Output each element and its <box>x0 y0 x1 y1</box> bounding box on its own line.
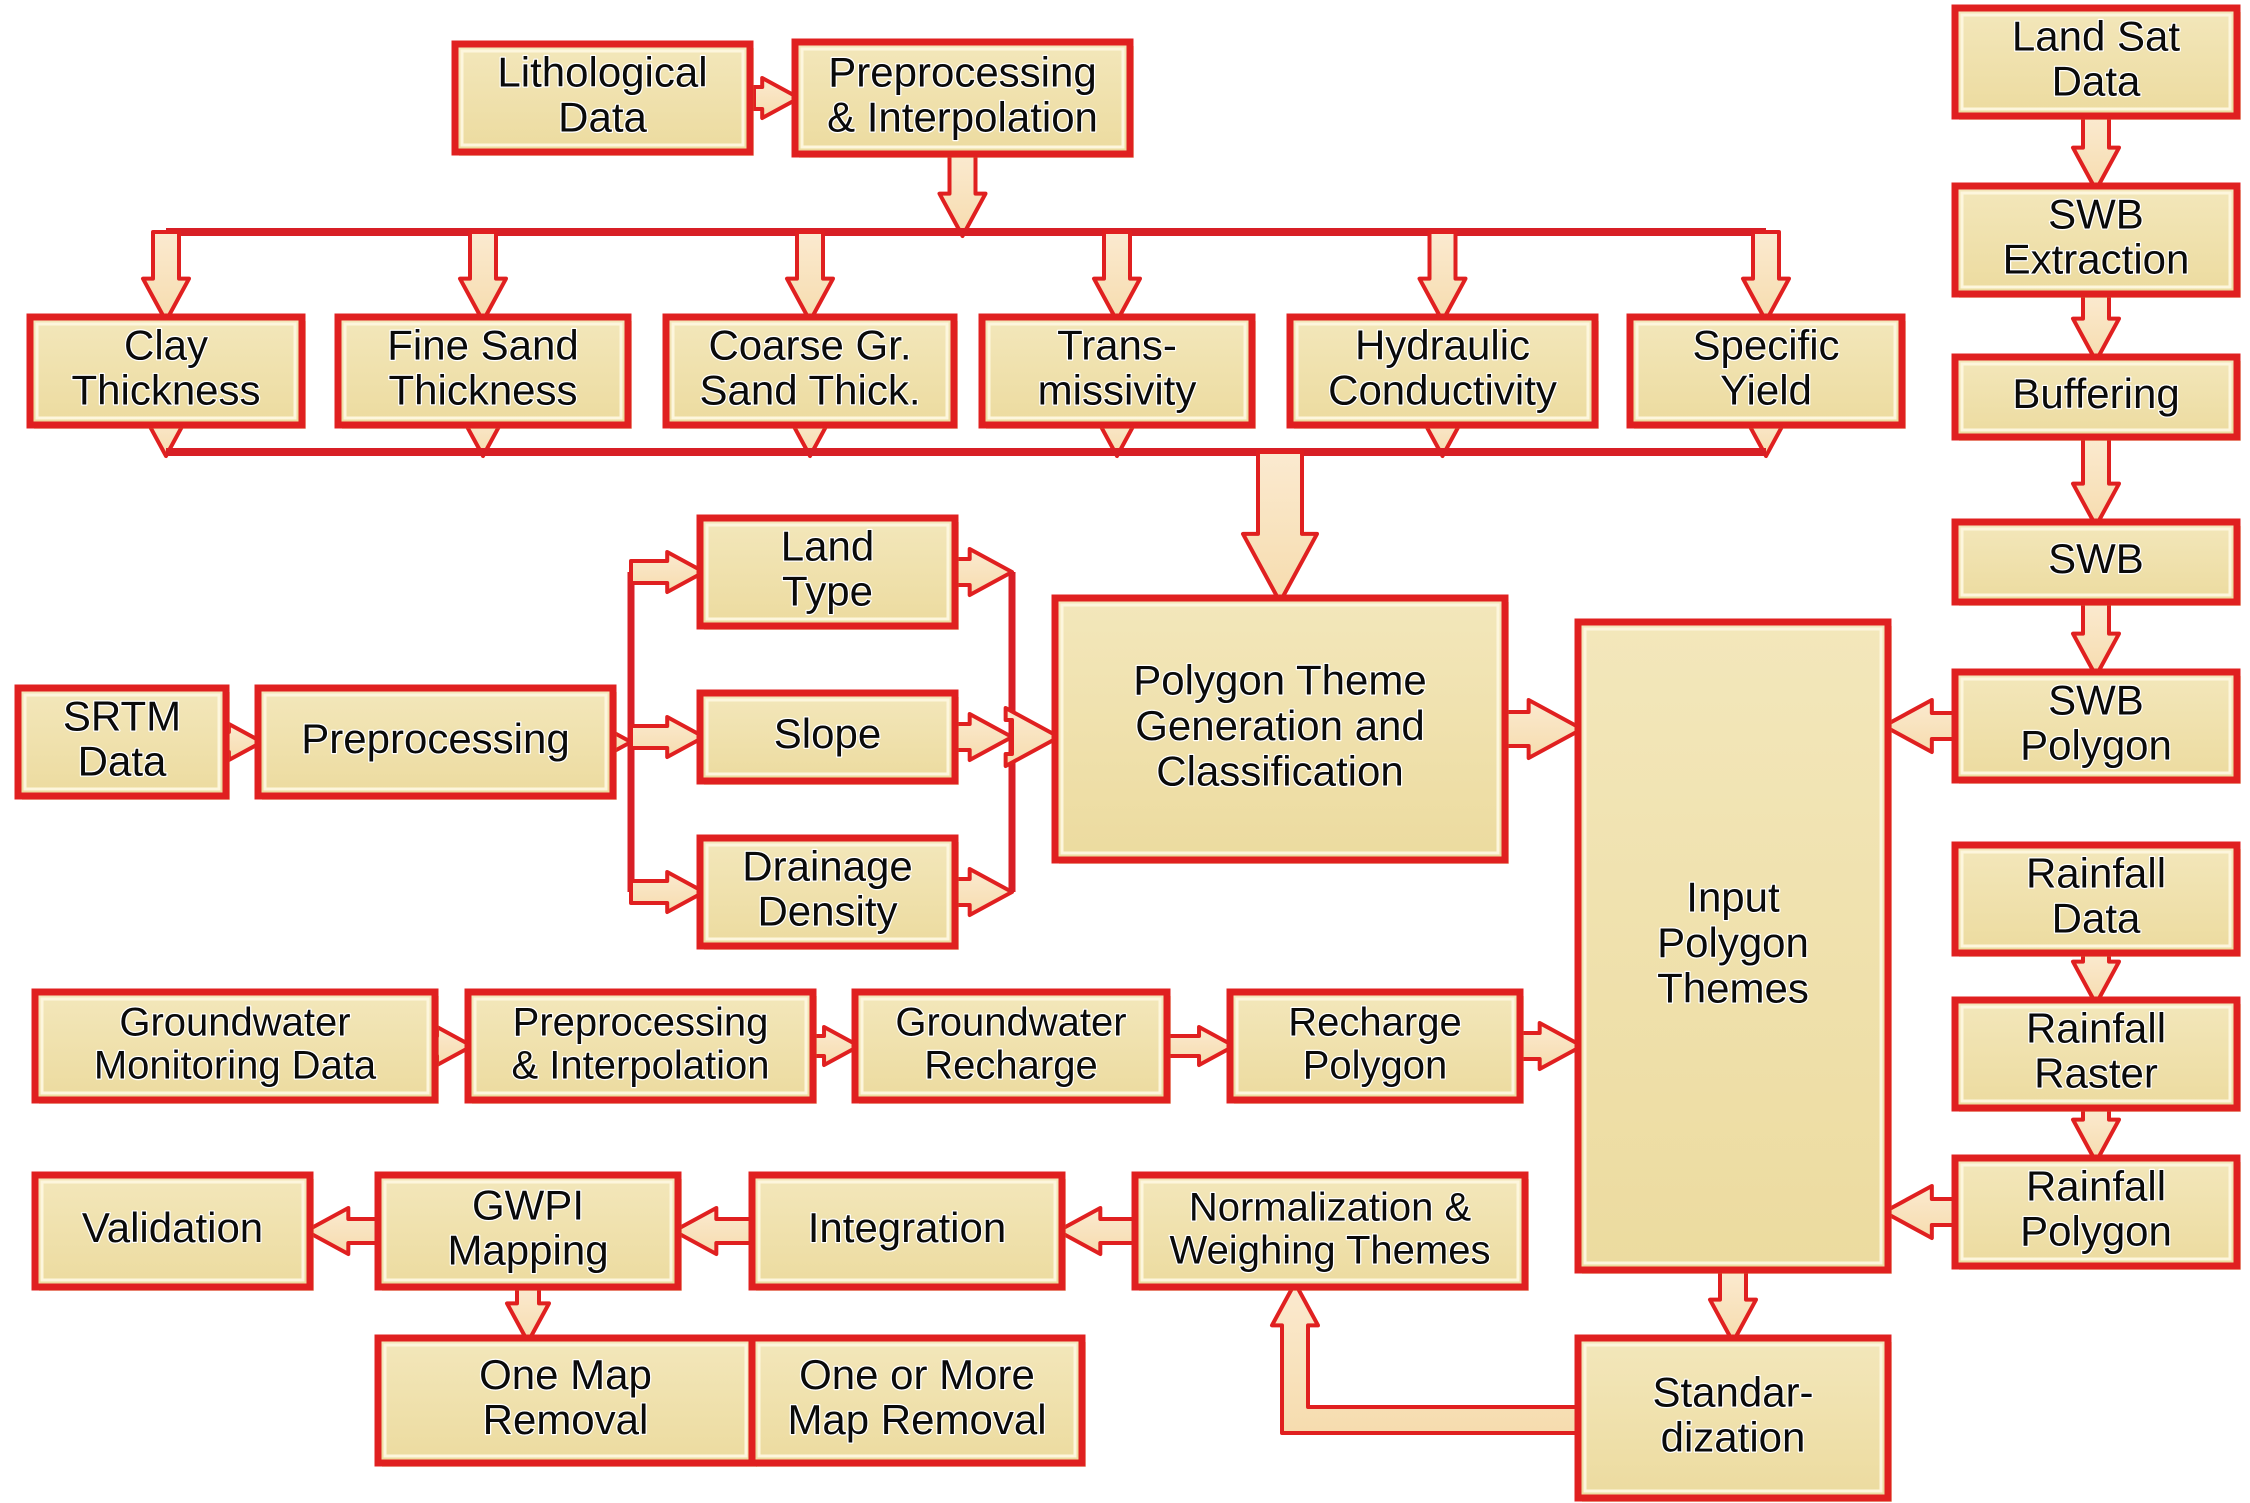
node-polygon-theme-generation[interactable]: Polygon ThemeGeneration andClassificatio… <box>1055 598 1509 864</box>
node-label-fine-sand-thickness: Fine SandThickness <box>387 321 578 413</box>
arrow-right-icon <box>1520 1023 1582 1069</box>
node-label-rainfall-raster: RainfallRaster <box>2026 1004 2166 1096</box>
arrow-right-icon <box>631 872 704 912</box>
arrow-down-icon <box>2073 116 2119 190</box>
node-fine-sand-thickness[interactable]: Fine SandThickness <box>338 317 632 429</box>
arrow-left-icon <box>674 1208 752 1254</box>
node-clay-thickness[interactable]: ClayThickness <box>30 317 306 429</box>
node-label-slope: Slope <box>774 710 881 757</box>
arrow-down-icon <box>1743 232 1789 321</box>
arrow-down-icon <box>2073 294 2119 361</box>
node-label-one-or-more-map-removal: One or MoreMap Removal <box>787 1351 1046 1443</box>
node-swb[interactable]: SWB <box>1955 522 2241 606</box>
arrow-down-icon <box>1420 232 1466 321</box>
arrow-down-icon <box>1094 232 1140 321</box>
node-label-normalization-weighing: Normalization &Weighing Themes <box>1170 1185 1491 1272</box>
node-input-polygon-themes[interactable]: InputPolygonThemes <box>1578 622 1892 1274</box>
node-one-map-removal[interactable]: One MapRemoval <box>378 1338 757 1467</box>
arrow-down-icon <box>143 232 189 321</box>
node-label-land-type: LandType <box>781 522 874 614</box>
node-label-one-map-removal: One MapRemoval <box>479 1351 652 1443</box>
arrow-right-icon <box>1505 700 1582 758</box>
node-preprocessing-interp-top[interactable]: Preprocessing& Interpolation <box>795 42 1134 158</box>
arrow-down-icon <box>1710 1270 1756 1342</box>
arrow-elbow-up-icon <box>1272 1283 1584 1433</box>
node-groundwater-monitoring[interactable]: GroundwaterMonitoring Data <box>35 992 439 1104</box>
arrow-right-icon <box>631 552 704 592</box>
arrow-down-icon <box>2073 602 2119 676</box>
node-srtm-data[interactable]: SRTMData <box>18 688 230 800</box>
arrow-left-icon <box>1884 1186 1955 1238</box>
node-label-validation: Validation <box>82 1204 263 1251</box>
node-swb-polygon[interactable]: SWBPolygon <box>1955 672 2241 784</box>
arrow-left-icon <box>306 1208 378 1254</box>
node-groundwater-recharge[interactable]: GroundwaterRecharge <box>855 992 1171 1104</box>
arrow-down-icon <box>2073 953 2119 1004</box>
node-label-rainfall-polygon: RainfallPolygon <box>2020 1162 2172 1254</box>
arrow-right-icon <box>955 549 1012 595</box>
node-label-recharge-polygon: RechargePolygon <box>1288 1000 1461 1087</box>
node-slope[interactable]: Slope <box>700 693 959 785</box>
node-land-type[interactable]: LandType <box>700 518 959 630</box>
arrow-down-icon <box>460 232 506 321</box>
node-normalization-weighing[interactable]: Normalization &Weighing Themes <box>1135 1175 1529 1291</box>
node-label-preprocessing-gw: Preprocessing& Interpolation <box>512 1000 770 1087</box>
node-label-drainage-density: DrainageDensity <box>742 842 912 934</box>
node-label-preprocessing-srtm: Preprocessing <box>301 715 569 762</box>
node-recharge-polygon[interactable]: RechargePolygon <box>1230 992 1524 1104</box>
node-integration[interactable]: Integration <box>752 1175 1066 1291</box>
node-preprocessing-gw[interactable]: Preprocessing& Interpolation <box>468 992 817 1104</box>
node-buffering[interactable]: Buffering <box>1955 357 2241 441</box>
arrow-right-icon <box>1167 1027 1234 1065</box>
node-label-swb: SWB <box>2048 535 2144 582</box>
node-transmissivity[interactable]: Trans-missivity <box>982 317 1256 429</box>
node-hydraulic-conductivity[interactable]: HydraulicConductivity <box>1290 317 1599 429</box>
flowchart-svg: LithologicalDataPreprocessing& Interpola… <box>0 0 2250 1503</box>
node-label-polygon-theme-generation: Polygon ThemeGeneration andClassificatio… <box>1133 657 1426 795</box>
node-drainage-density[interactable]: DrainageDensity <box>700 838 959 950</box>
node-label-standardization: Standar-dization <box>1652 1368 1813 1460</box>
node-label-hydraulic-conductivity: HydraulicConductivity <box>1328 321 1557 413</box>
node-coarse-sand-thickness[interactable]: Coarse Gr.Sand Thick. <box>666 317 958 429</box>
arrow-down-icon <box>2073 1108 2119 1162</box>
node-rainfall-raster[interactable]: RainfallRaster <box>1955 1000 2241 1112</box>
node-specific-yield[interactable]: SpecificYield <box>1630 317 1906 429</box>
node-label-transmissivity: Trans-missivity <box>1038 321 1197 413</box>
node-preprocessing-srtm[interactable]: Preprocessing <box>258 688 617 800</box>
arrow-right-icon <box>1006 708 1059 766</box>
arrow-right-icon <box>631 717 704 757</box>
flowchart-canvas: LithologicalDataPreprocessing& Interpola… <box>0 0 2250 1503</box>
node-rainfall-data[interactable]: RainfallData <box>1955 845 2241 957</box>
arrow-down-icon <box>507 1287 549 1342</box>
arrow-down-icon <box>1243 452 1317 602</box>
node-label-coarse-sand-thickness: Coarse Gr.Sand Thick. <box>699 321 920 413</box>
arrow-right-icon <box>955 714 1012 760</box>
node-rainfall-polygon[interactable]: RainfallPolygon <box>1955 1158 2241 1270</box>
node-lithological-data[interactable]: LithologicalData <box>455 44 754 156</box>
arrow-right-icon <box>955 869 1012 915</box>
node-label-buffering: Buffering <box>2012 370 2179 417</box>
arrow-down-icon <box>787 232 833 321</box>
node-swb-extraction[interactable]: SWBExtraction <box>1955 186 2241 298</box>
arrow-left-icon <box>1058 1208 1135 1254</box>
arrow-left-icon <box>1884 700 1955 752</box>
node-label-preprocessing-interp-top: Preprocessing& Interpolation <box>827 48 1098 140</box>
node-label-integration: Integration <box>808 1204 1006 1251</box>
node-standardization[interactable]: Standar-dization <box>1578 1338 1892 1502</box>
node-gwpi-mapping[interactable]: GWPIMapping <box>378 1175 682 1291</box>
node-validation[interactable]: Validation <box>35 1175 314 1291</box>
node-one-or-more-map-removal[interactable]: One or MoreMap Removal <box>752 1338 1086 1467</box>
arrow-down-icon <box>940 154 986 236</box>
arrow-down-icon <box>2073 437 2119 526</box>
node-land-sat-data[interactable]: Land SatData <box>1955 8 2241 120</box>
node-label-groundwater-recharge: GroundwaterRecharge <box>895 1000 1126 1087</box>
node-label-groundwater-monitoring: GroundwaterMonitoring Data <box>94 1000 377 1087</box>
node-label-srtm-data: SRTMData <box>63 692 181 784</box>
